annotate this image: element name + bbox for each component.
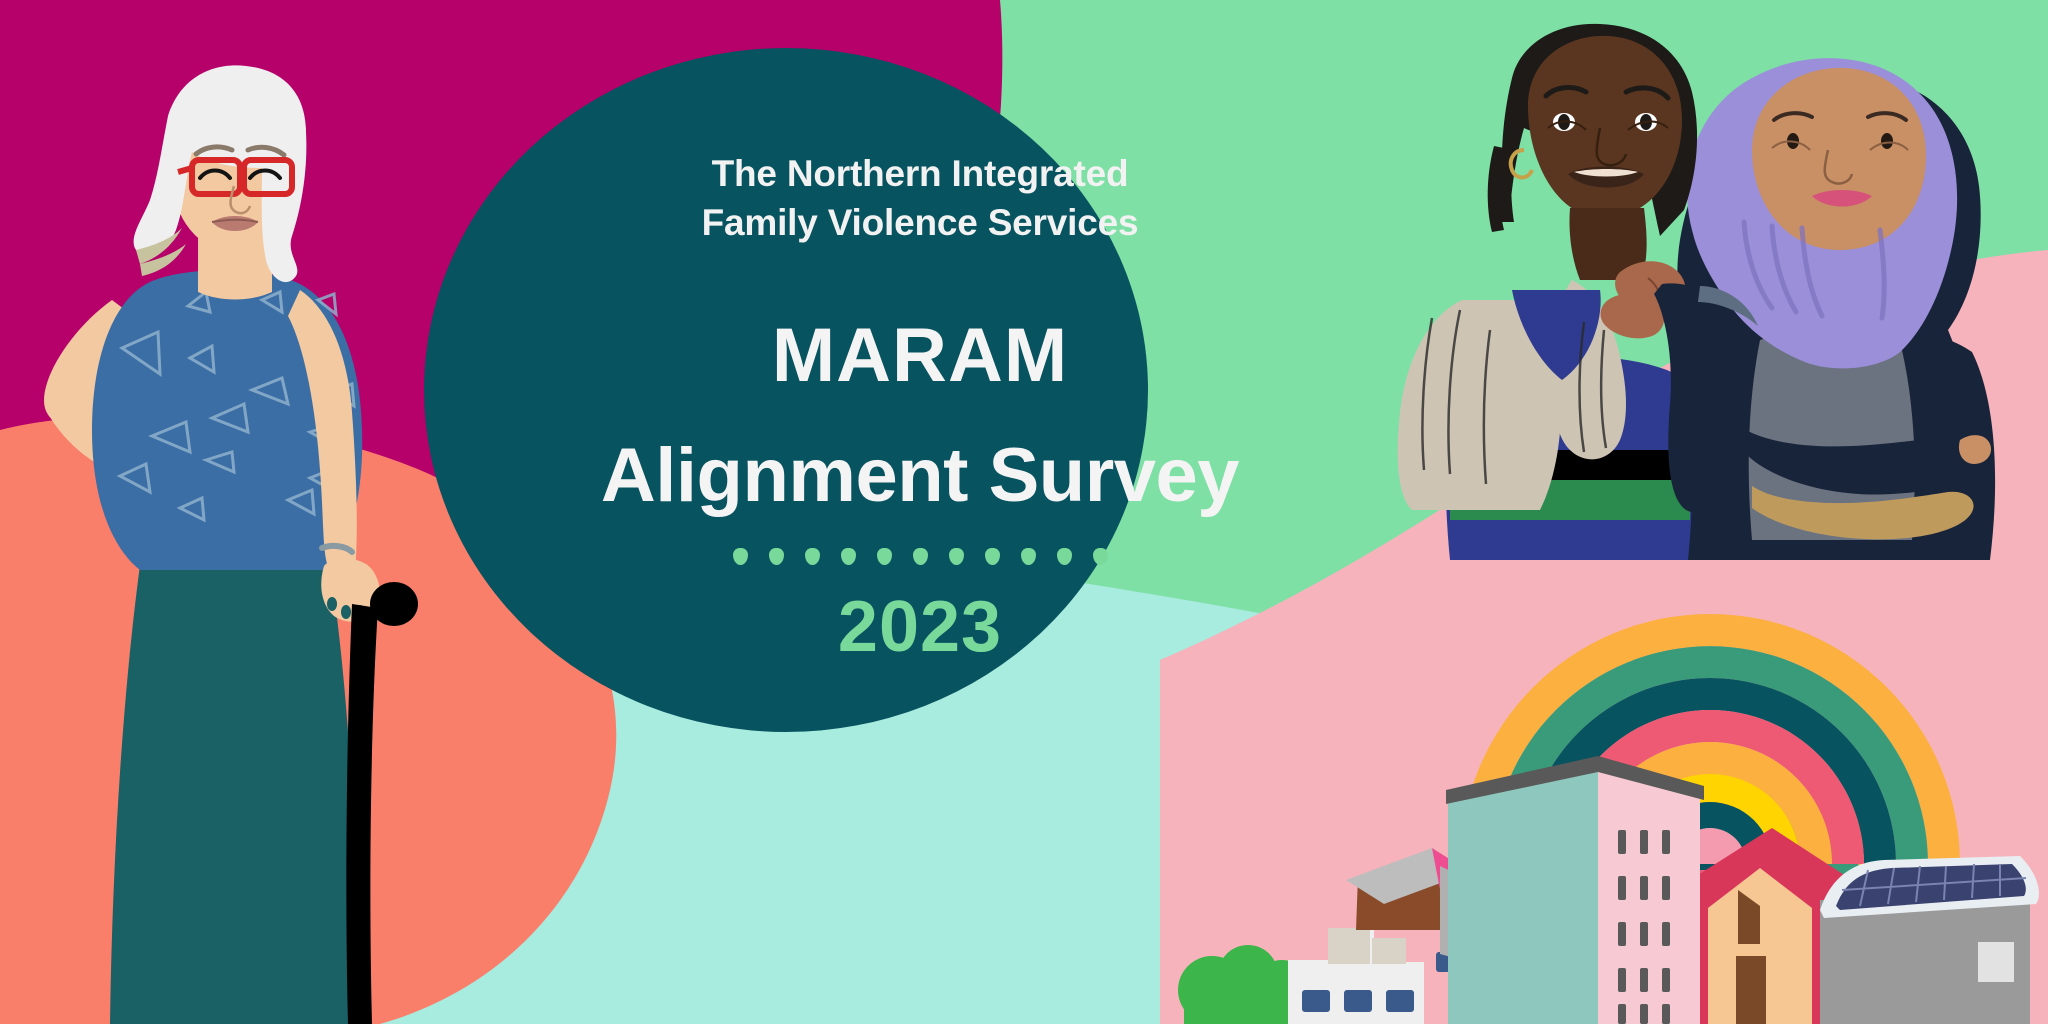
maram-survey-poster: The Northern IntegratedFamily Violence S… [0, 0, 2048, 1024]
teal-ellipse [424, 48, 1148, 732]
teal-badge-shape [0, 0, 2048, 1024]
